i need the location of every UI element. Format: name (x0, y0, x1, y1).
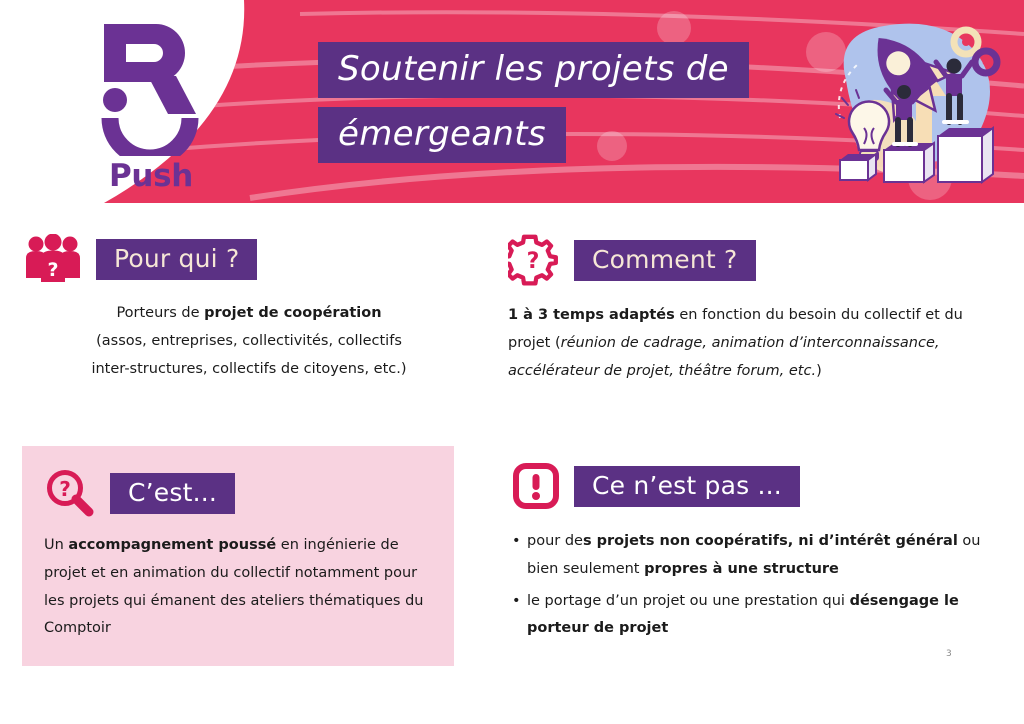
section-comment: ? Comment ? 1 à 3 temps adaptés en fonct… (508, 234, 1008, 385)
section-body: Porteurs de projet de coopération (assos… (24, 300, 474, 383)
text-bold: 1 à 3 temps adaptés (508, 307, 675, 323)
text-line: inter-structures, collectifs de citoyens… (24, 356, 474, 384)
section-ce-nest-pas: Ce n’est pas ... pour des projets non co… (512, 462, 1012, 647)
chip-ce-nest-pas: Ce n’est pas ... (574, 466, 800, 507)
page-number: 3 (946, 649, 952, 659)
section-header: ? Comment ? (508, 234, 1008, 286)
startup-growth-illustration (806, 10, 1006, 200)
section-header: ? Pour qui ? (24, 234, 474, 284)
text-bold: projet de coopération (204, 305, 381, 321)
list-item: le portage d’un projet ou une prestation… (512, 588, 1012, 644)
title-line-2: émergeants (318, 107, 566, 163)
text-plain: Un (44, 537, 68, 553)
text-plain-close: ) (816, 363, 822, 379)
slide-title: Soutenir les projets de émergeants (318, 42, 788, 163)
section-body: Un accompagnement poussé en ingénierie d… (44, 532, 430, 643)
section-body: pour des projets non coopératifs, ni d’i… (512, 528, 1012, 643)
title-line-1: Soutenir les projets de (318, 42, 749, 98)
gear-purple-icon (975, 51, 997, 73)
brand-logo: Push (86, 18, 216, 203)
bullet-list: pour des projets non coopératifs, ni d’i… (512, 528, 1012, 643)
text-bold: accompagnement poussé (68, 537, 276, 553)
slide-root: Push Soutenir les projets de émergeants (0, 0, 1024, 724)
svg-text:?: ? (527, 249, 540, 274)
text-plain: Porteurs de (116, 305, 204, 321)
section-header: Ce n’est pas ... (512, 462, 1012, 510)
text-line: (assos, entreprises, collectivités, coll… (24, 328, 474, 356)
svg-text:?: ? (47, 259, 58, 281)
section-body: 1 à 3 temps adaptés en fonction du besoi… (508, 302, 1008, 385)
chip-comment: Comment ? (574, 240, 756, 281)
text-italic: réunion de cadrage, animation d’intercon… (508, 335, 940, 379)
gear-question-icon: ? (508, 234, 560, 286)
exclamation-warning-icon (512, 462, 560, 510)
section-header: ? C’est... (44, 468, 430, 518)
chip-pour-qui: Pour qui ? (96, 239, 257, 280)
list-item: pour des projets non coopératifs, ni d’i… (512, 528, 1012, 584)
chip-cest: C’est... (110, 473, 235, 514)
svg-text:?: ? (59, 477, 71, 501)
group-of-people-question-icon: ? (24, 234, 82, 284)
logo-wordmark: Push (86, 158, 216, 194)
push-r-smile-logo-icon (92, 18, 210, 156)
text-line: Porteurs de projet de coopération (24, 300, 474, 328)
magnifier-question-icon: ? (44, 468, 96, 518)
section-pour-qui: ? Pour qui ? Porteurs de projet de coopé… (24, 234, 474, 383)
section-cest: ? C’est... Un accompagnement poussé en i… (22, 446, 454, 666)
